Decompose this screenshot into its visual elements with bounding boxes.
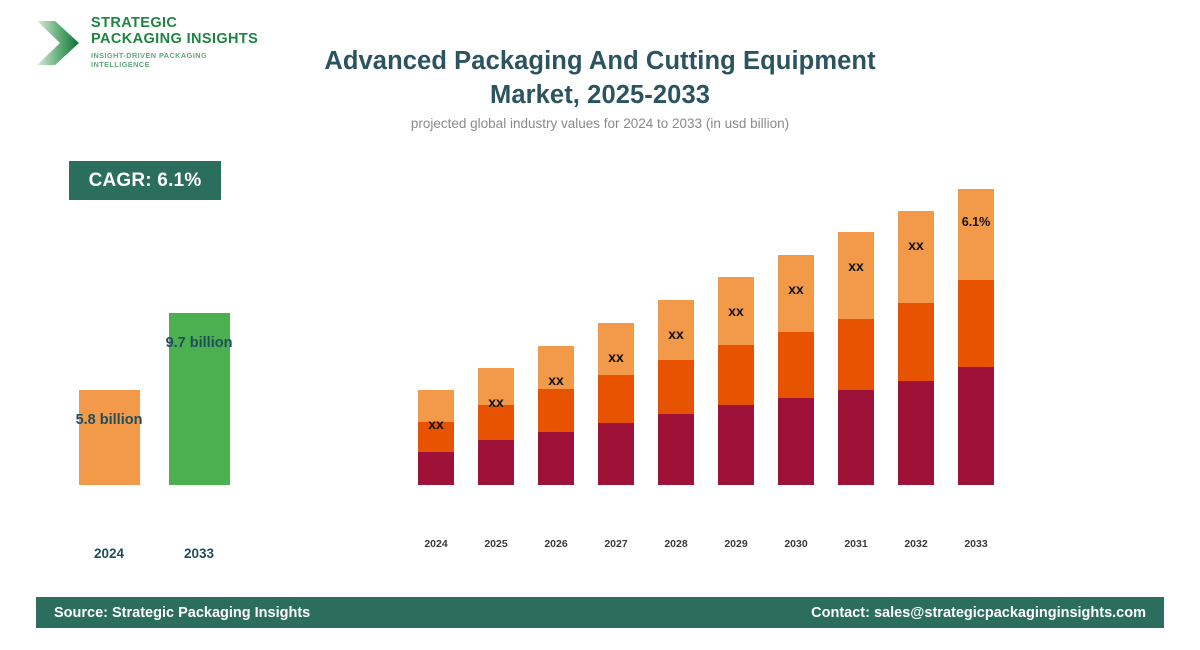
stacked-bar-value-label-2026: xx	[521, 372, 591, 388]
stacked-bar-value-label-2025: xx	[461, 394, 531, 410]
summary-bar-2024	[79, 390, 140, 485]
stacked-bar-value-label-2024: xx	[401, 416, 471, 432]
footer-contact-text: Contact: sales@strategicpackaginginsight…	[811, 605, 1146, 621]
stacked-bar-segment-segment-bottom-2029	[718, 405, 754, 485]
stacked-bar-segment-segment-bottom-2031	[838, 390, 874, 485]
stacked-bar-segment-segment-top-2031	[838, 232, 874, 319]
stacked-bar-segment-segment-bottom-2024	[418, 452, 454, 485]
stacked-bar-segment-segment-top-2032	[898, 211, 934, 303]
stacked-bar-segment-segment-middle-2031	[838, 319, 874, 390]
summary-bar-value-label-2033: 9.7 billion	[139, 335, 259, 351]
stacked-bar-2033	[958, 189, 994, 485]
stacked-bar-segment-segment-top-2033	[958, 189, 994, 280]
stacked-bar-value-label-2030: xx	[761, 281, 831, 297]
footer-bar: Source: Strategic Packaging Insights Con…	[36, 597, 1164, 628]
stacked-bar-segment-segment-bottom-2032	[898, 381, 934, 485]
stacked-bar-segment-segment-middle-2033	[958, 280, 994, 367]
stacked-bar-segment-segment-bottom-2028	[658, 414, 694, 485]
stacked-bar-segment-segment-middle-2030	[778, 332, 814, 398]
stacked-bar-value-label-2027: xx	[581, 349, 651, 365]
stacked-bar-segment-segment-bottom-2025	[478, 440, 514, 485]
forecast-stacked-bar-chart: xx2024xx2025xx2026xx2027xx2028xx2029xx20…	[400, 0, 1020, 600]
stacked-bar-segment-segment-middle-2028	[658, 360, 694, 414]
stacked-bar-2025	[478, 368, 514, 485]
stacked-bar-segment-segment-bottom-2033	[958, 367, 994, 485]
stacked-bar-segment-segment-bottom-2030	[778, 398, 814, 485]
stacked-bar-value-label-2028: xx	[641, 326, 711, 342]
stacked-bar-segment-segment-middle-2026	[538, 389, 574, 432]
stacked-bar-value-label-2029: xx	[701, 303, 771, 319]
stacked-bar-segment-segment-middle-2032	[898, 303, 934, 381]
stacked-bar-segment-segment-middle-2029	[718, 345, 754, 405]
summary-bar-chart: 5.8 billion20249.7 billion2033	[0, 0, 300, 600]
stacked-bar-value-label-2033: 6.1%	[941, 215, 1011, 229]
footer-source-text: Source: Strategic Packaging Insights	[54, 605, 310, 621]
summary-bar-value-label-2024: 5.8 billion	[49, 412, 169, 428]
stacked-bar-segment-segment-middle-2025	[478, 405, 514, 440]
stacked-bar-segment-segment-middle-2027	[598, 375, 634, 423]
stacked-bar-segment-segment-bottom-2027	[598, 423, 634, 485]
stacked-bar-value-label-2032: xx	[881, 237, 951, 253]
stacked-bar-year-label-2033: 2033	[941, 538, 1011, 550]
stacked-bar-2024	[418, 390, 454, 485]
summary-bar-year-label-2033: 2033	[139, 546, 259, 561]
stacked-bar-value-label-2031: xx	[821, 258, 891, 274]
stacked-bar-segment-segment-bottom-2026	[538, 432, 574, 485]
stacked-bar-2027	[598, 323, 634, 485]
stacked-bar-2026	[538, 346, 574, 485]
